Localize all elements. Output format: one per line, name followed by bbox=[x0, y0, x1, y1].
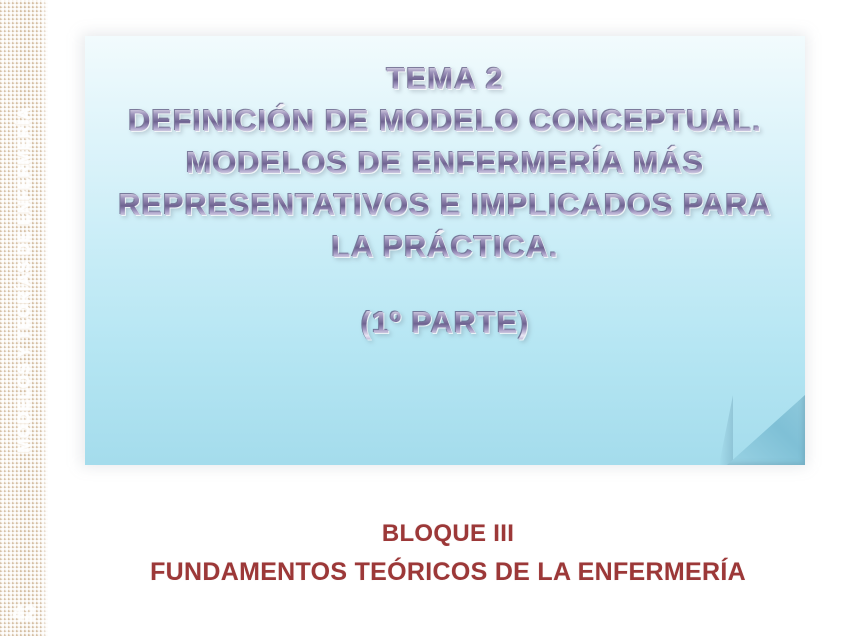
title-line-4: REPRESENTATIVOS E IMPLICADOS PARA bbox=[95, 184, 795, 226]
title-subtitle: (1º PARTE) bbox=[95, 302, 795, 344]
sidebar-vertical-title-text: MODELOS Y TEORÍAS DE ENFERMERÍA bbox=[14, 107, 34, 453]
sidebar-vertical-title: MODELOS Y TEORÍAS DE ENFERMERÍA bbox=[0, 0, 48, 560]
page-number: 42 bbox=[0, 602, 48, 626]
title-line-2: DEFINICIÓN DE MODELO CONCEPTUAL. bbox=[95, 100, 795, 142]
footer-line-1: BLOQUE III bbox=[68, 515, 828, 553]
slide-title-block: TEMA 2 DEFINICIÓN DE MODELO CONCEPTUAL. … bbox=[85, 58, 805, 344]
title-line-5: LA PRÁCTICA. bbox=[95, 226, 795, 268]
title-line-1: TEMA 2 bbox=[95, 58, 795, 100]
title-content-box: TEMA 2 DEFINICIÓN DE MODELO CONCEPTUAL. … bbox=[85, 36, 805, 465]
footer-line-2: FUNDAMENTOS TEÓRICOS DE LA ENFERMERÍA bbox=[68, 553, 828, 591]
slide-canvas: MODELOS Y TEORÍAS DE ENFERMERÍA 42 TEMA … bbox=[0, 0, 848, 636]
title-line-3: MODELOS DE ENFERMERÍA MÁS bbox=[95, 142, 795, 184]
slide-footer-block: BLOQUE III FUNDAMENTOS TEÓRICOS DE LA EN… bbox=[48, 515, 848, 591]
